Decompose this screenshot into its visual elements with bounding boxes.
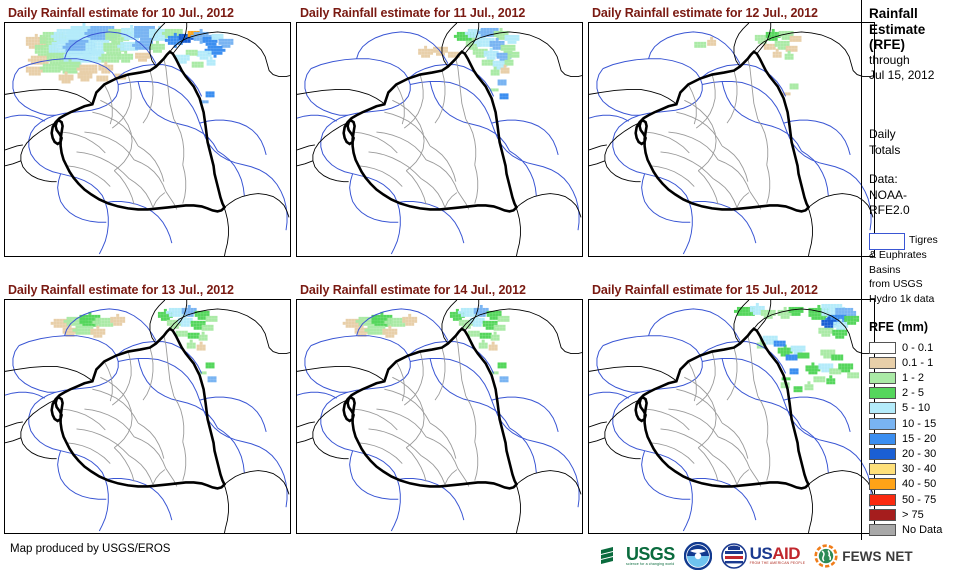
- basin-label-rest: & Euphrates Basins from USGS Hydro 1k da…: [869, 248, 934, 306]
- map-canvas: [297, 23, 582, 256]
- legend-row-3: 2 - 5: [869, 386, 924, 401]
- fews-net-logo: FEWS NET: [814, 544, 913, 568]
- legend-row-10: 50 - 75: [869, 492, 936, 507]
- map-panel-2: Daily Rainfall estimate for 11 Jul., 201…: [296, 4, 583, 257]
- legend-label-0: 0 - 0.1: [902, 342, 933, 354]
- usaid-logo: USAID FROM THE AMERICAN PEOPLE: [721, 543, 806, 569]
- usgs-tagline: science for a changing world: [626, 562, 675, 567]
- legend-label-9: 40 - 50: [902, 478, 936, 490]
- through-date: Jul 15, 2012: [869, 68, 934, 84]
- legend-swatch-7: [869, 448, 896, 460]
- panel-title-6: Daily Rainfall estimate for 15 Jul., 201…: [592, 281, 818, 299]
- legend-label-10: 50 - 75: [902, 494, 936, 506]
- map-frame-5: [296, 299, 583, 534]
- legend-swatch-5: [869, 418, 896, 430]
- legend-swatch-10: [869, 494, 896, 506]
- legend-label-2: 1 - 2: [902, 372, 924, 384]
- usaid-tagline: FROM THE AMERICAN PEOPLE: [750, 561, 806, 566]
- map-canvas: [5, 300, 290, 533]
- basin-line-3: Basins: [869, 263, 934, 278]
- panel-title-3: Daily Rainfall estimate for 12 Jul., 201…: [592, 4, 818, 22]
- legend-swatch-12: [869, 524, 896, 536]
- map-frame-1: [4, 22, 291, 257]
- legend-swatch-1: [869, 357, 896, 369]
- fews-wordmark: FEWS NET: [842, 549, 913, 564]
- panel-title-5: Daily Rainfall estimate for 14 Jul., 201…: [300, 281, 526, 299]
- data-line-1: NOAA-: [869, 188, 910, 204]
- map-panel-4: Daily Rainfall estimate for 13 Jul., 201…: [4, 281, 291, 534]
- map-panel-3: Daily Rainfall estimate for 12 Jul., 201…: [588, 4, 875, 257]
- legend-label-1: 0.1 - 1: [902, 357, 933, 369]
- noaa-logo: [684, 542, 712, 570]
- panel-title-2: Daily Rainfall estimate for 11 Jul., 201…: [300, 4, 525, 22]
- panel-title-4: Daily Rainfall estimate for 13 Jul., 201…: [8, 281, 234, 299]
- fews-globe-icon: [814, 544, 838, 568]
- usgs-wave-icon: [600, 546, 626, 566]
- basin-line-2: & Euphrates: [869, 248, 934, 263]
- usgs-logo: USGS science for a changing world: [600, 546, 675, 567]
- legend-row-5: 10 - 15: [869, 416, 936, 431]
- legend-swatch-4: [869, 402, 896, 414]
- legend-label-12: No Data: [902, 524, 942, 536]
- legend-swatch-2: [869, 372, 896, 384]
- map-credit: Map produced by USGS/EROS: [10, 543, 170, 555]
- usaid-seal-icon: [721, 543, 747, 569]
- noaa-seal-icon: [684, 542, 712, 570]
- data-label: Data:: [869, 172, 910, 188]
- map-frame-4: [4, 299, 291, 534]
- legend-swatch-9: [869, 478, 896, 490]
- heading-line-1: Rainfall: [869, 6, 934, 22]
- map-frame-2: [296, 22, 583, 257]
- legend-label-3: 2 - 5: [902, 387, 924, 399]
- legend-swatch-0: [869, 342, 896, 354]
- logo-strip: USGS science for a changing world: [600, 540, 922, 572]
- map-frame-3: [588, 22, 875, 257]
- legend-label-8: 30 - 40: [902, 463, 936, 475]
- legend-title: RFE (mm): [869, 320, 928, 334]
- map-canvas: [297, 300, 582, 533]
- map-canvas: [589, 300, 874, 533]
- data-source-block: Data: NOAA- RFE2.0: [869, 172, 910, 219]
- totals-line-1: Daily: [869, 127, 900, 143]
- legend-swatch-6: [869, 433, 896, 445]
- basin-line-4: from USGS: [869, 277, 934, 292]
- sidebar-divider: [861, 0, 862, 540]
- legend-row-8: 30 - 40: [869, 462, 936, 477]
- legend-row-9: 40 - 50: [869, 477, 936, 492]
- legend-row-4: 5 - 10: [869, 401, 930, 416]
- legend-swatch-11: [869, 509, 896, 521]
- legend-swatch-8: [869, 463, 896, 475]
- legend-label-4: 5 - 10: [902, 402, 930, 414]
- sidebar-heading: Rainfall Estimate (RFE) through Jul 15, …: [869, 6, 934, 84]
- usgs-wordmark: USGS: [626, 546, 675, 562]
- totals-block: Daily Totals: [869, 127, 900, 158]
- map-panel-5: Daily Rainfall estimate for 14 Jul., 201…: [296, 281, 583, 534]
- totals-line-2: Totals: [869, 143, 900, 159]
- map-frame-6: [588, 299, 875, 534]
- sidebar: Rainfall Estimate (RFE) through Jul 15, …: [861, 0, 967, 540]
- legend-row-12: No Data: [869, 522, 942, 537]
- legend-label-5: 10 - 15: [902, 418, 936, 430]
- heading-line-2: Estimate: [869, 22, 934, 38]
- basin-label-first: Tigres: [909, 233, 938, 248]
- through-label: through: [869, 53, 934, 69]
- data-line-2: RFE2.0: [869, 203, 910, 219]
- legend-label-6: 15 - 20: [902, 433, 936, 445]
- panel-title-1: Daily Rainfall estimate for 10 Jul., 201…: [8, 4, 234, 22]
- legend-label-7: 20 - 30: [902, 448, 936, 460]
- legend-swatch-3: [869, 387, 896, 399]
- basin-line-5: Hydro 1k data: [869, 292, 934, 307]
- map-panel-1: Daily Rainfall estimate for 10 Jul., 201…: [4, 4, 291, 257]
- legend-row-7: 20 - 30: [869, 446, 936, 461]
- map-panel-6: Daily Rainfall estimate for 15 Jul., 201…: [588, 281, 875, 534]
- rainfall-estimate-map-figure: Daily Rainfall estimate for 10 Jul., 201…: [0, 0, 967, 576]
- legend-row-1: 0.1 - 1: [869, 355, 933, 370]
- map-canvas: [5, 23, 290, 256]
- legend-row-2: 1 - 2: [869, 370, 924, 385]
- legend-row-6: 15 - 20: [869, 431, 936, 446]
- heading-line-3: (RFE): [869, 37, 934, 53]
- legend-row-11: > 75: [869, 507, 924, 522]
- map-canvas: [589, 23, 874, 256]
- legend-row-0: 0 - 0.1: [869, 340, 933, 355]
- usaid-wordmark: USAID: [750, 546, 806, 561]
- legend-label-11: > 75: [902, 509, 924, 521]
